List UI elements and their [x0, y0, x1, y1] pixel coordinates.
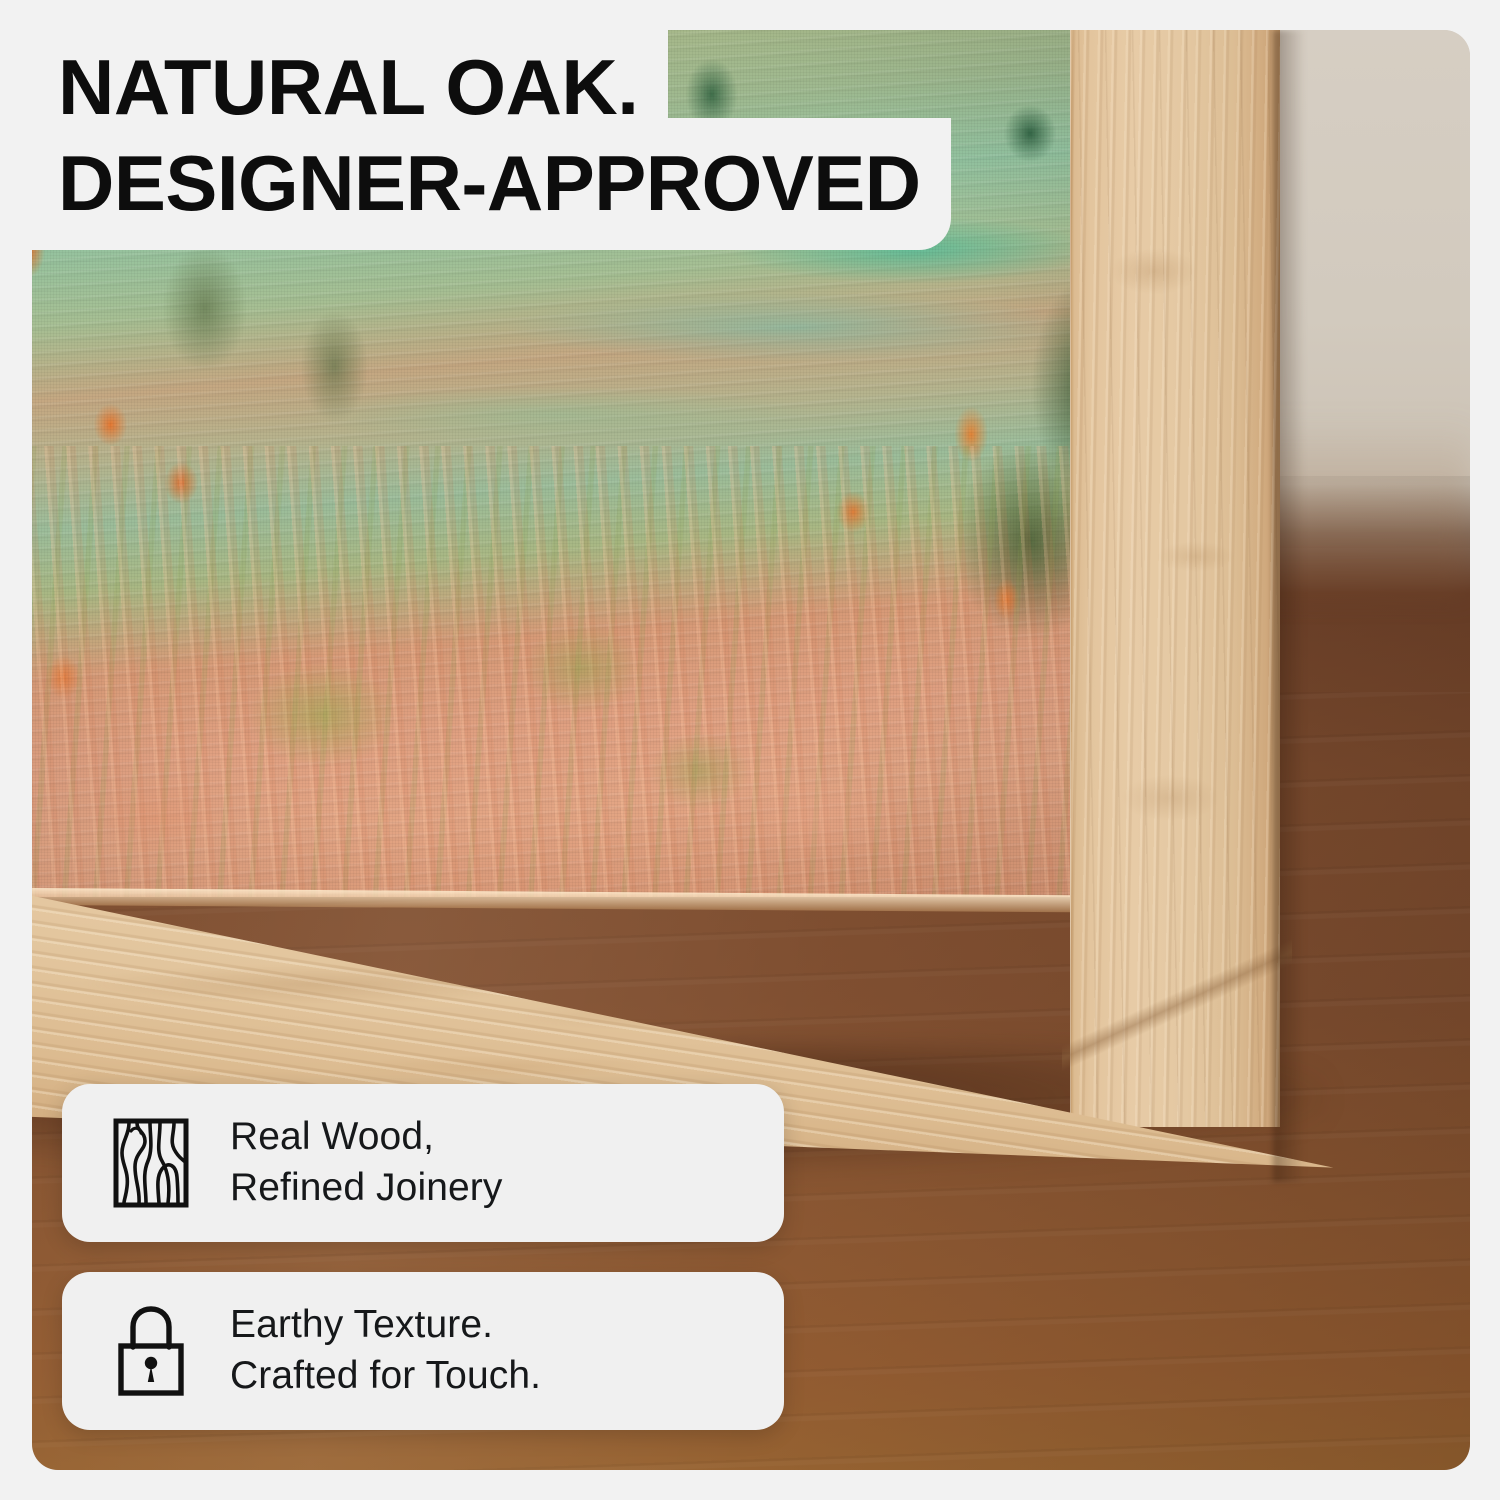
frame-mitre-joint: [1062, 844, 1292, 1175]
frame-edge-shadow: [1273, 30, 1305, 1182]
oak-picture-frame: [32, 30, 1470, 1470]
feature-card-text-real-wood: Real Wood, Refined Joinery: [230, 1112, 502, 1213]
feature-line-1: Real Wood,: [230, 1115, 434, 1158]
product-image-stage: NATURAL OAK. DESIGNER-APPROVED Real Wood…: [0, 0, 1500, 1500]
feature-line-2: Refined Joinery: [230, 1163, 502, 1214]
feature-card-earthy-texture: Earthy Texture. Crafted for Touch.: [62, 1272, 784, 1430]
feature-card-real-wood: Real Wood, Refined Joinery: [62, 1084, 784, 1242]
product-photo: [32, 30, 1470, 1470]
feature-line-2: Crafted for Touch.: [230, 1351, 541, 1402]
feature-card-text-earthy-texture: Earthy Texture. Crafted for Touch.: [230, 1300, 541, 1401]
wood-grain-icon: [108, 1115, 194, 1211]
feature-line-1: Earthy Texture.: [230, 1303, 493, 1346]
artwork-canvas: [32, 30, 1085, 897]
artwork-vignette: [32, 30, 1085, 897]
padlock-icon: [108, 1303, 194, 1399]
